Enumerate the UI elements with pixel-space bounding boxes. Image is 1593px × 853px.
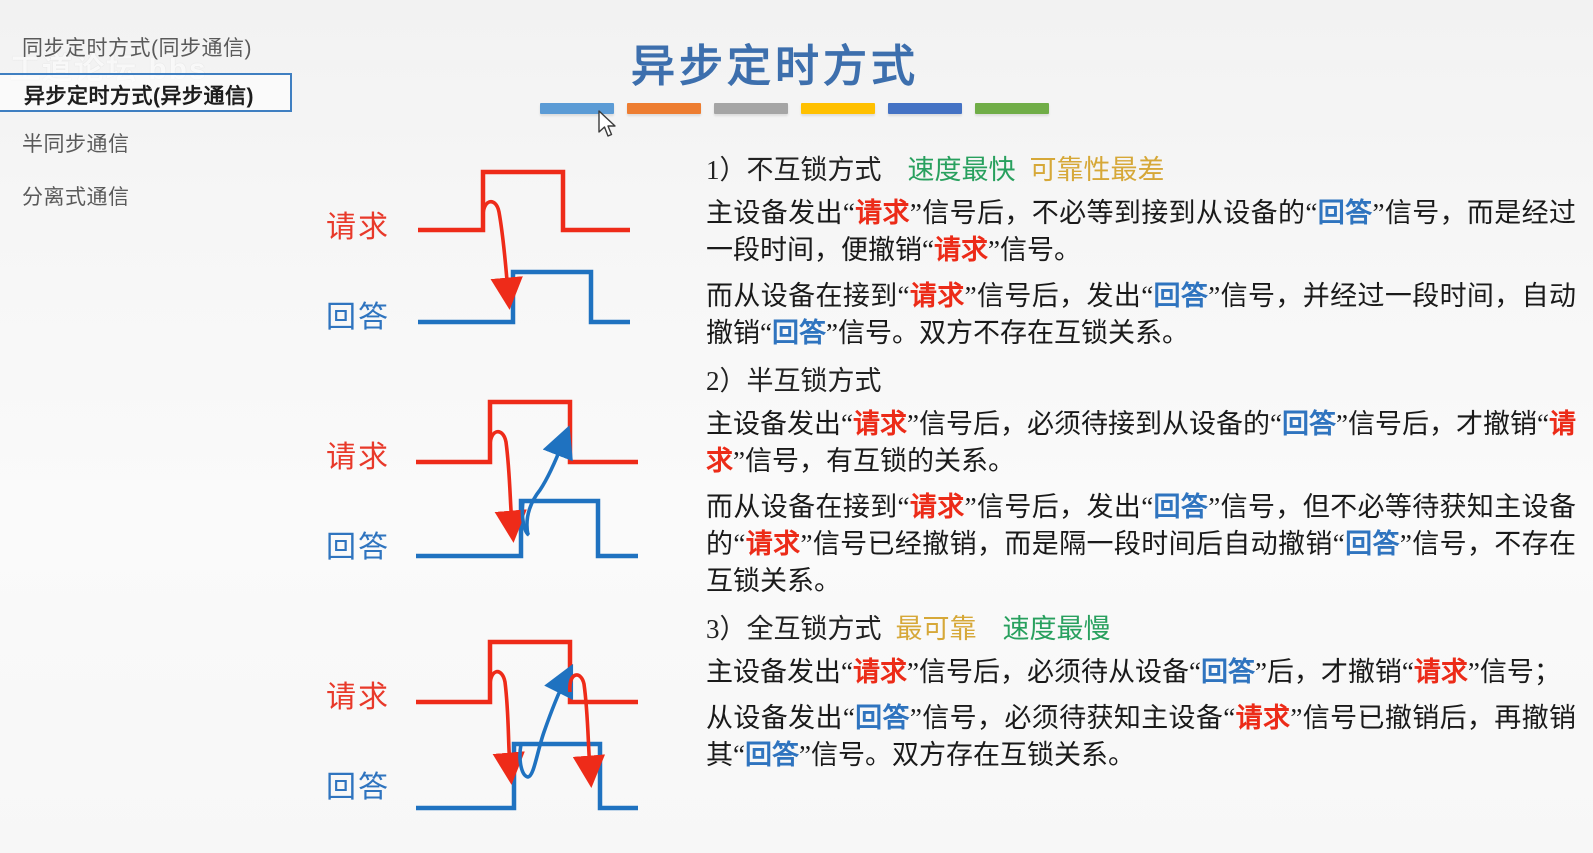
section3-paragraph-1: 主设备发出“请求”信号后，必须待从设备“回答”后，才撤销“请求”信号；: [706, 654, 1576, 691]
accent-bar-darkblue: [888, 103, 962, 114]
body-text: ”后，才撤销“: [1255, 657, 1414, 687]
section2-paragraph-2: 而从设备在接到“请求”信号后，发出“回答”信号，但不必等待获知主设备的“请求”信…: [706, 489, 1576, 600]
body-text: 而从设备在接到“: [706, 281, 910, 311]
mouse-cursor-icon: [598, 110, 620, 140]
body-text: ”信号后，发出“: [965, 492, 1154, 522]
sidebar-item-async-timing[interactable]: 异步定时方式(异步通信): [24, 80, 254, 110]
body-text: 主设备发出“: [706, 198, 855, 228]
accent-bar-orange: [627, 103, 701, 114]
explanation-column: 1）不互锁方式速度最快可靠性最差 主设备发出“请求”信号后，不必等到接到从设备的…: [706, 150, 1576, 783]
accent-bar-gray: [714, 103, 788, 114]
answer-keyword: 回答: [772, 318, 826, 348]
body-text: ”信号后，必须待接到从设备的“: [907, 409, 1282, 439]
body-text: ”信号。双方存在互锁关系。: [799, 740, 1135, 770]
body-text: ”信号后，必须待从设备“: [907, 657, 1201, 687]
request-keyword: 请求: [910, 492, 965, 522]
section1-tag-speed: 速度最快: [908, 155, 1016, 185]
request-keyword: 请求: [934, 235, 988, 265]
request-keyword: 请求: [910, 281, 965, 311]
answer-keyword: 回答: [855, 703, 910, 733]
body-text: ”信号，有互锁的关系。: [733, 446, 1015, 476]
request-keyword: 请求: [1235, 703, 1290, 733]
diagram2-request-waveform: [416, 402, 638, 462]
slide-canvas: 工道论坛 bbs 同步定时方式(同步通信) 异步定时方式(异步通信) 半同步通信…: [0, 0, 1593, 853]
answer-keyword: 回答: [1153, 281, 1208, 311]
answer-keyword: 回答: [1317, 198, 1372, 228]
body-text: 而从设备在接到“: [706, 492, 910, 522]
body-text: ”信号，必须待获知主设备“: [910, 703, 1235, 733]
request-keyword: 请求: [853, 409, 907, 439]
request-keyword: 请求: [855, 198, 910, 228]
section3-number: 3）: [706, 614, 747, 644]
section-non-interlock: 1）不互锁方式速度最快可靠性最差 主设备发出“请求”信号后，不必等到接到从设备的…: [706, 150, 1576, 352]
body-text: ”信号。双方不存在互锁关系。: [826, 318, 1189, 348]
diagram1-request-waveform: [418, 172, 630, 230]
request-keyword: 请求: [1414, 657, 1468, 687]
section1-heading: 1）不互锁方式速度最快可靠性最差: [706, 150, 1576, 190]
accent-bar-yellow: [801, 103, 875, 114]
section2-title: 半互锁方式: [747, 366, 882, 396]
body-text: ”信号；: [1468, 657, 1561, 687]
diagram1-arrow-request-to-answer: [483, 202, 508, 292]
section3-title: 全互锁方式: [747, 614, 882, 644]
diagram3-arrow-request-to-answer: [490, 672, 510, 767]
diagram-half-interlock: 请求 回答: [318, 380, 658, 580]
page-title: 异步定时方式: [540, 30, 1010, 94]
section2-number: 2）: [706, 366, 747, 396]
request-keyword: 请求: [853, 657, 907, 687]
answer-keyword: 回答: [1201, 657, 1255, 687]
sidebar-item-split-comm[interactable]: 分离式通信: [22, 181, 130, 211]
section3-paragraph-2: 从设备发出“回答”信号，必须待获知主设备“请求”信号已撤销后，再撤销其“回答”信…: [706, 700, 1576, 774]
section2-heading: 2）半互锁方式: [706, 361, 1576, 401]
diagram3-request-waveform: [416, 642, 638, 702]
body-text: ”信号已经撤销，而是隔一段时间后自动撤销“: [800, 529, 1344, 559]
body-text: 从设备发出“: [706, 703, 855, 733]
body-text: ”信号后，发出“: [965, 281, 1154, 311]
timing-diagram-group: 请求 回答 请求 回答: [318, 150, 668, 840]
sidebar-item-semi-sync[interactable]: 半同步通信: [22, 128, 130, 158]
section-full-interlock: 3）全互锁方式最可靠速度最慢 主设备发出“请求”信号后，必须待从设备“回答”后，…: [706, 609, 1576, 774]
body-text: ”信号后，才撤销“: [1336, 409, 1549, 439]
diagram-full-interlock: 请求 回答: [318, 620, 658, 820]
body-text: 主设备发出“: [706, 657, 853, 687]
section1-paragraph-1: 主设备发出“请求”信号后，不必等到接到从设备的“回答”信号，而是经过一段时间，便…: [706, 195, 1576, 269]
diagram3-arrow-request-fall-to-answer-fall: [570, 675, 590, 770]
accent-bar-green: [975, 103, 1049, 114]
section1-title: 不互锁方式: [747, 155, 882, 185]
answer-keyword: 回答: [1282, 409, 1336, 439]
answer-keyword: 回答: [745, 740, 799, 770]
answer-keyword: 回答: [1153, 492, 1208, 522]
section3-heading: 3）全互锁方式最可靠速度最慢: [706, 609, 1576, 649]
diagram1-answer-waveform: [418, 272, 630, 322]
section1-tag-reliability: 可靠性最差: [1030, 155, 1165, 185]
diagram3-arrow-answer-to-request-fall: [520, 680, 565, 777]
section3-tag-reliability: 最可靠: [896, 614, 977, 644]
section1-paragraph-2: 而从设备在接到“请求”信号后，发出“回答”信号，并经过一段时间，自动撤销“回答”…: [706, 278, 1576, 352]
body-text: ”信号。: [988, 235, 1081, 265]
body-text: 主设备发出“: [706, 409, 853, 439]
diagram-non-interlock: 请求 回答: [318, 150, 658, 350]
answer-keyword: 回答: [1345, 529, 1400, 559]
sidebar-outline: 工道论坛 bbs 同步定时方式(同步通信) 异步定时方式(异步通信) 半同步通信…: [0, 8, 300, 228]
request-keyword: 请求: [745, 529, 800, 559]
section-half-interlock: 2）半互锁方式 主设备发出“请求”信号后，必须待接到从设备的“回答”信号后，才撤…: [706, 361, 1576, 600]
section2-paragraph-1: 主设备发出“请求”信号后，必须待接到从设备的“回答”信号后，才撤销“请求”信号，…: [706, 406, 1576, 480]
section1-number: 1）: [706, 155, 747, 185]
diagram2-arrow-request-to-answer: [490, 432, 512, 525]
body-text: ”信号后，不必等到接到从设备的“: [910, 198, 1317, 228]
section3-tag-speed: 速度最慢: [1003, 614, 1111, 644]
diagram2-arrow-answer-to-request-fall: [527, 442, 563, 535]
sidebar-item-sync-timing[interactable]: 同步定时方式(同步通信): [22, 32, 252, 62]
